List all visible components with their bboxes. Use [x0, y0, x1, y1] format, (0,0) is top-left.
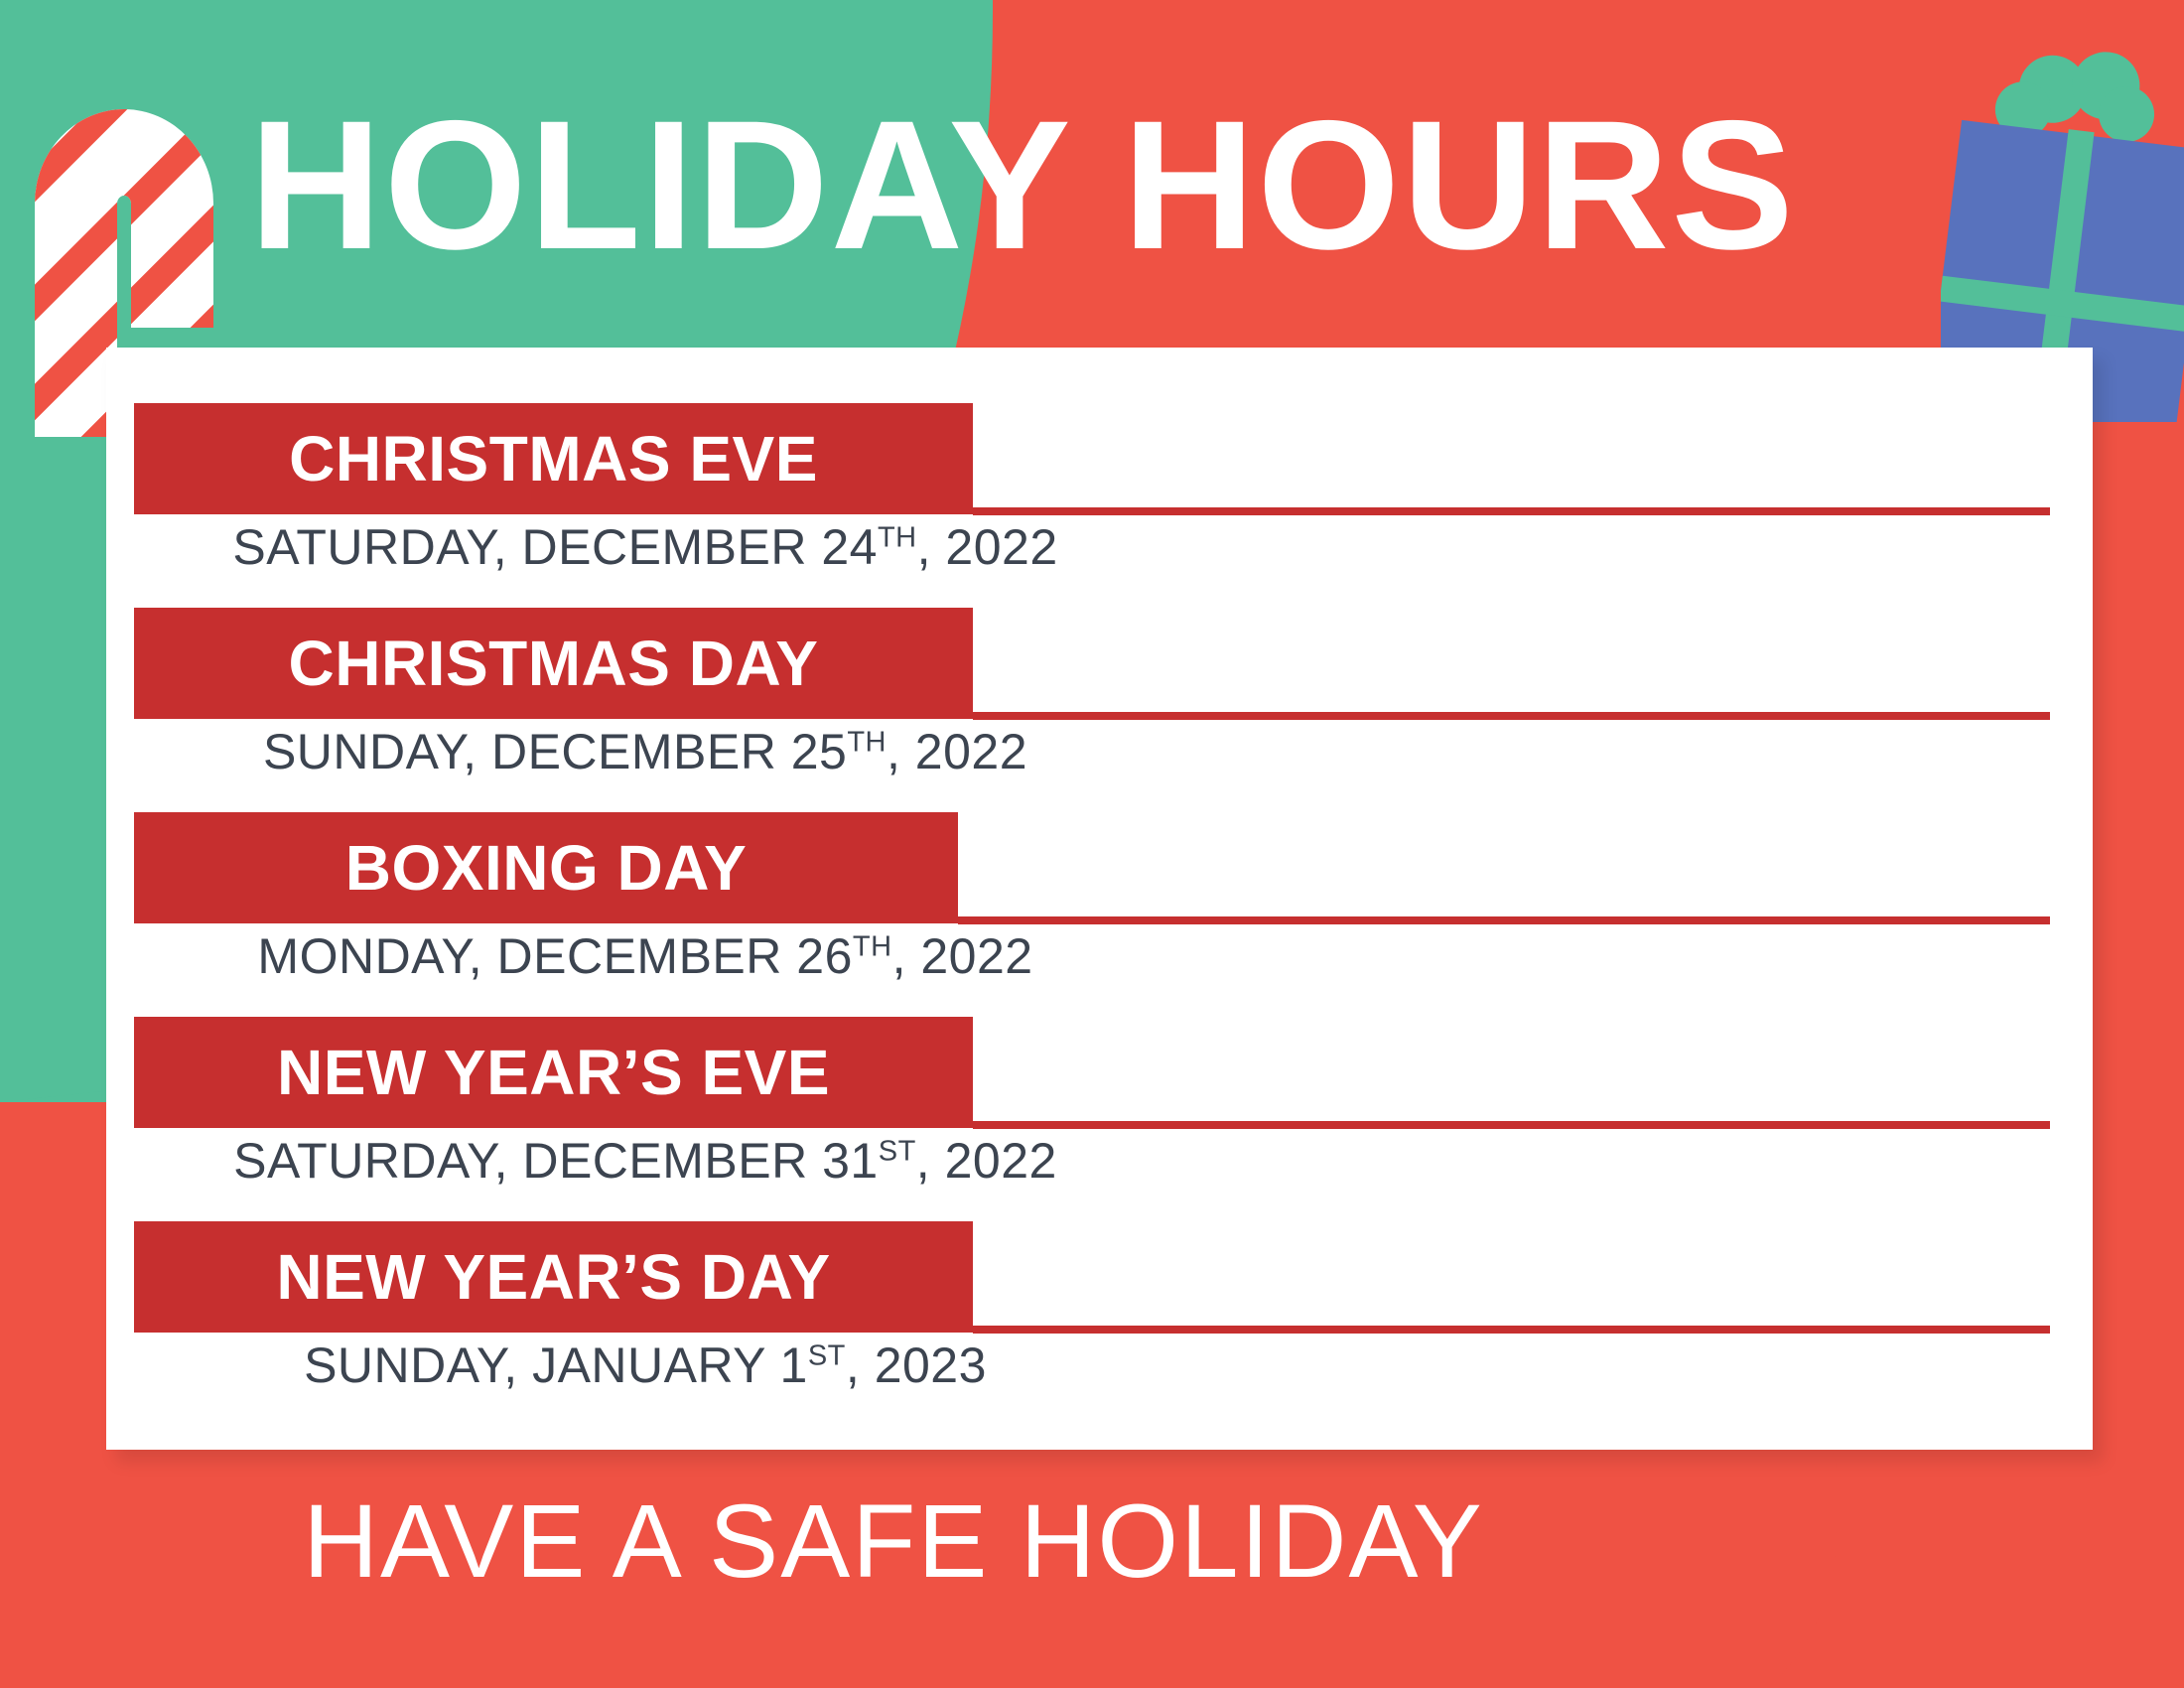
- date-suffix: , 2023: [846, 1337, 987, 1393]
- table-row: CHRISTMAS EVE SATURDAY, DECEMBER 24TH, 2…: [134, 403, 2080, 608]
- row-bar-wrap: NEW YEAR’S DAY: [134, 1221, 2080, 1333]
- date-suffix: , 2022: [887, 724, 1027, 779]
- holiday-name: CHRISTMAS DAY: [289, 632, 819, 695]
- row-bar-wrap: BOXING DAY: [134, 812, 2080, 923]
- date-suffix: , 2022: [917, 519, 1058, 575]
- row-rule: [973, 1121, 2050, 1129]
- row-rule: [973, 507, 2050, 515]
- holiday-name-bar: CHRISTMAS DAY: [134, 608, 973, 719]
- hours-card: CHRISTMAS EVE SATURDAY, DECEMBER 24TH, 2…: [106, 348, 2093, 1450]
- row-bar-wrap: CHRISTMAS EVE: [134, 403, 2080, 514]
- date-ordinal: ST: [808, 1339, 846, 1371]
- row-bar-wrap: CHRISTMAS DAY: [134, 608, 2080, 719]
- table-row: NEW YEAR’S DAY SUNDAY, JANUARY 1ST, 2023: [134, 1221, 2080, 1420]
- row-bar-wrap: NEW YEAR’S EVE: [134, 1017, 2080, 1128]
- holiday-date: SATURDAY, DECEMBER 24TH, 2022: [134, 522, 1157, 572]
- date-prefix: SUNDAY, DECEMBER 25: [263, 724, 847, 779]
- holiday-name: NEW YEAR’S DAY: [276, 1245, 830, 1309]
- date-suffix: , 2022: [892, 928, 1033, 984]
- date-ordinal: TH: [853, 930, 892, 962]
- date-prefix: SATURDAY, DECEMBER 31: [233, 1133, 879, 1189]
- date-suffix: , 2022: [916, 1133, 1057, 1189]
- page-title: HOLIDAY HOURS: [0, 94, 2045, 278]
- holiday-date: SUNDAY, JANUARY 1ST, 2023: [134, 1340, 1157, 1390]
- holiday-name: CHRISTMAS EVE: [289, 427, 818, 491]
- table-row: BOXING DAY MONDAY, DECEMBER 26TH, 2022: [134, 812, 2080, 1017]
- date-prefix: SUNDAY, JANUARY 1: [304, 1337, 808, 1393]
- date-prefix: MONDAY, DECEMBER 26: [257, 928, 852, 984]
- holiday-hours-poster: HOLIDAY HOURS CHRISTMAS EVE SATURDAY, DE…: [0, 0, 2184, 1688]
- holiday-date: MONDAY, DECEMBER 26TH, 2022: [134, 931, 1157, 981]
- holiday-name-bar: CHRISTMAS EVE: [134, 403, 973, 514]
- row-rule: [973, 712, 2050, 720]
- date-ordinal: TH: [847, 726, 887, 758]
- table-row: NEW YEAR’S EVE SATURDAY, DECEMBER 31ST, …: [134, 1017, 2080, 1221]
- holiday-name: NEW YEAR’S EVE: [277, 1041, 830, 1104]
- date-prefix: SATURDAY, DECEMBER 24: [232, 519, 878, 575]
- date-ordinal: TH: [878, 521, 917, 553]
- holiday-name-bar: NEW YEAR’S EVE: [134, 1017, 973, 1128]
- holiday-name: BOXING DAY: [345, 836, 748, 900]
- holiday-name-bar: BOXING DAY: [134, 812, 958, 923]
- date-ordinal: ST: [879, 1135, 916, 1167]
- holiday-name-bar: NEW YEAR’S DAY: [134, 1221, 973, 1333]
- row-rule: [958, 916, 2050, 924]
- holiday-date: SATURDAY, DECEMBER 31ST, 2022: [134, 1136, 1157, 1186]
- hours-row-list: CHRISTMAS EVE SATURDAY, DECEMBER 24TH, 2…: [134, 403, 2080, 1420]
- holiday-date: SUNDAY, DECEMBER 25TH, 2022: [134, 727, 1157, 776]
- table-row: CHRISTMAS DAY SUNDAY, DECEMBER 25TH, 202…: [134, 608, 2080, 812]
- row-rule: [973, 1326, 2050, 1334]
- footer-message: HAVE A SAFE HOLIDAY: [0, 1489, 1787, 1594]
